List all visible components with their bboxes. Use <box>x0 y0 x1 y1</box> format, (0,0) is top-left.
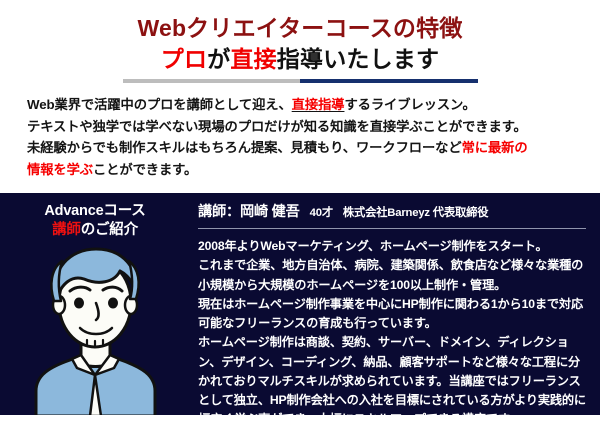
header-divider <box>123 79 478 83</box>
instructor-avatar-illustration <box>28 241 163 415</box>
lead-line2: テキストや独学では学べない現場のプロだけが知る知識を直接学ぶことができます。 <box>27 119 527 134</box>
instructor-profile-section: Advanceコース 講師のご紹介 <box>0 193 600 415</box>
bio-paragraph: 現在はホームページ制作事業を中心にHP制作に関わる1から10まで対応可能なフリー… <box>198 295 590 334</box>
course-badge-subtitle-white: のご紹介 <box>81 222 138 238</box>
instructor-age: 40才 <box>310 207 333 219</box>
headline-part-tail: 指導いたします <box>277 46 439 72</box>
headline-accent-pro: プロ <box>161 46 207 72</box>
lead-paragraph: Web業界で活躍中のプロを講師として迎え、直接指導するライブレッスン。 テキスト… <box>27 94 587 180</box>
instructor-name-line: 講師：岡崎 健吾40才株式会社Barneyz 代表取締役 <box>198 199 590 221</box>
headline-part-ga: が <box>207 46 230 72</box>
course-badge: Advanceコース 講師のご紹介 <box>0 193 190 240</box>
lead-line1-emphasis: 直接指導 <box>292 97 345 112</box>
lead-line3-emphasis: 常に最新の <box>462 140 528 155</box>
bio-paragraph: これまで企業、地方自治体、病院、建築関係、飲食店など様々な業種の小規模から大規模… <box>198 256 590 295</box>
course-badge-subtitle: 講師のご紹介 <box>0 221 190 240</box>
headline-accent-chokusetsu: 直接 <box>230 46 276 72</box>
course-badge-title: Advanceコース <box>0 202 190 221</box>
course-badge-subtitle-red: 講師 <box>52 222 81 238</box>
page-header: Webクリエイターコースの特徴 プロが直接指導いたします <box>0 0 600 83</box>
lead-line1-c: するライブレッスン。 <box>344 97 475 112</box>
lead-line3-a: 未経験からでも制作スキルはもちろん提案、見積もり、ワークフローなど <box>27 140 462 155</box>
divider-segment-gray <box>123 79 301 83</box>
lead-line4-emphasis: 情報を学ぶ <box>27 162 93 177</box>
bio-paragraph: ホームページ制作は商談、契約、サーバー、ドメイン、ディレクション、デザイン、コー… <box>198 333 590 429</box>
profile-separator <box>198 228 586 229</box>
bio-paragraph: 2008年よりWebマーケティング、ホームページ制作をスタート。 <box>198 237 590 256</box>
profile-right-column: 講師：岡崎 健吾40才株式会社Barneyz 代表取締役 2008年よりWebマ… <box>190 193 600 415</box>
headline-primary: Webクリエイターコースの特徴 <box>0 14 600 42</box>
instructor-bio: 2008年よりWebマーケティング、ホームページ制作をスタート。 これまで企業、… <box>198 237 590 430</box>
lead-line4-c: ことができます。 <box>93 162 197 177</box>
lead-line1-a: Web業界で活躍中のプロを講師として迎え、 <box>27 97 292 112</box>
divider-segment-navy <box>300 79 478 83</box>
profile-left-column: Advanceコース 講師のご紹介 <box>0 193 190 415</box>
instructor-company: 株式会社Barneyz 代表取締役 <box>343 207 488 219</box>
instructor-name: 講師：岡崎 健吾 <box>198 204 300 220</box>
headline-secondary: プロが直接指導いたします <box>0 45 600 73</box>
